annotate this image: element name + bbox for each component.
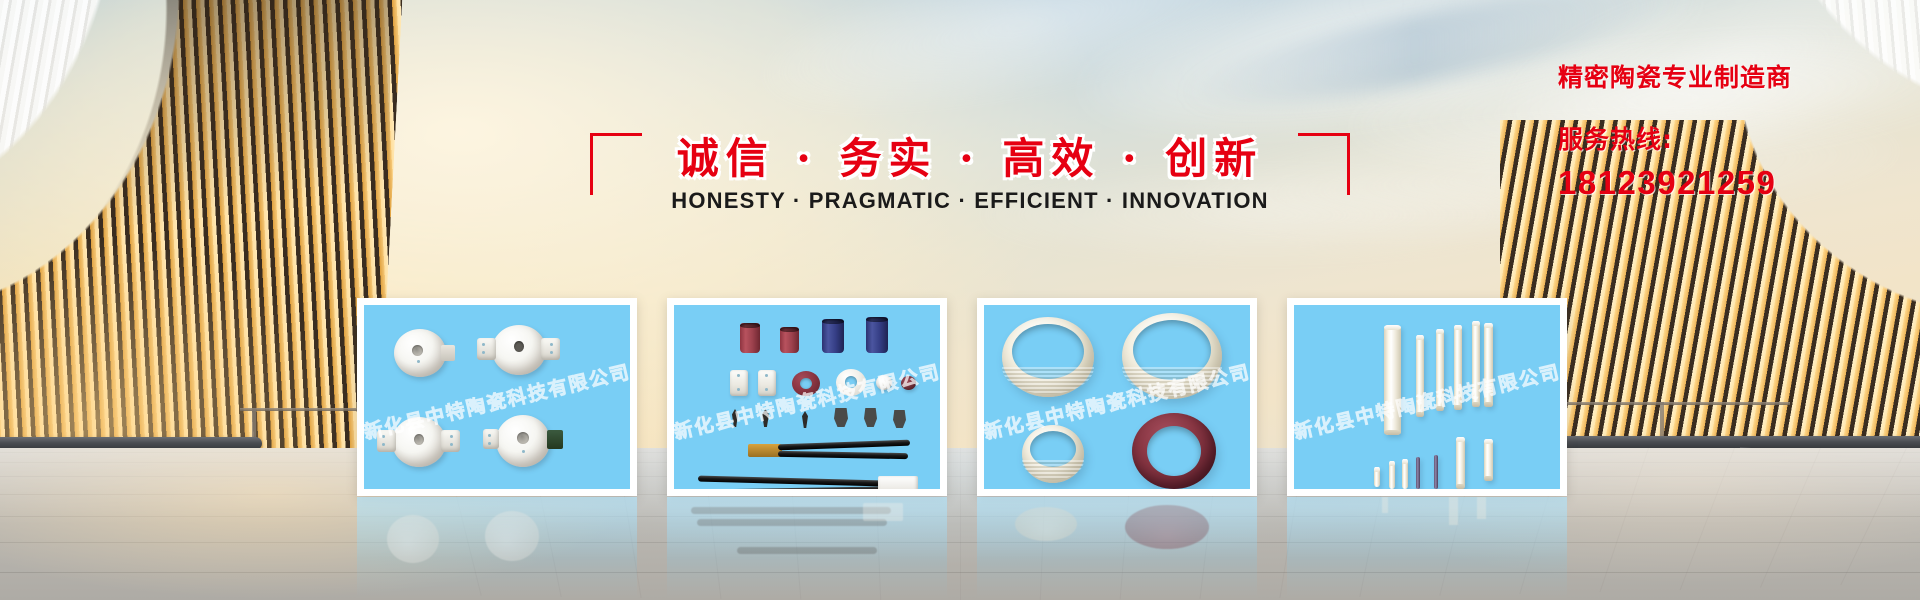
ceramic-rod-purple bbox=[1434, 455, 1438, 489]
product-image-3: 新化县中特陶瓷科技有限公司 bbox=[984, 305, 1250, 489]
wire-assembly-1 bbox=[748, 440, 908, 462]
ceramic-tube bbox=[780, 327, 799, 353]
wire-assembly-2 bbox=[698, 475, 918, 489]
ceramic-rod bbox=[1416, 335, 1424, 417]
metal-clip bbox=[732, 409, 738, 427]
ceramic-ring-small bbox=[836, 369, 866, 396]
slogan-english: HONESTY · PRAGMATIC · EFFICIENT · INNOVA… bbox=[590, 188, 1350, 214]
reflection-panel-2 bbox=[667, 497, 947, 599]
ceramic-ring-maroon bbox=[1132, 413, 1216, 489]
company-tagline: 精密陶瓷专业制造商 bbox=[1558, 58, 1898, 94]
hotline-label: 服务热线: bbox=[1558, 120, 1898, 156]
metal-clip bbox=[834, 408, 848, 427]
ceramic-ring-large bbox=[1122, 313, 1222, 399]
ceramic-rod-small bbox=[1374, 467, 1380, 487]
ceramic-rod bbox=[1472, 321, 1480, 407]
contact-block: 精密陶瓷专业制造商 服务热线: 18123921259 bbox=[1558, 58, 1898, 202]
reflection-panel-1 bbox=[357, 497, 637, 599]
metal-clip bbox=[802, 411, 808, 428]
ceramic-tube bbox=[740, 323, 760, 353]
ceramic-holder-part bbox=[492, 325, 546, 375]
ceramic-rod bbox=[1454, 325, 1462, 410]
product-panel-row: 新化县中特陶瓷科技有限公司 bbox=[357, 298, 1567, 498]
ceramic-plate bbox=[730, 370, 748, 396]
ceramic-rod bbox=[1384, 325, 1401, 435]
product-panel-4[interactable]: 新化县中特陶瓷科技有限公司 bbox=[1287, 298, 1567, 496]
product-panel-1[interactable]: 新化县中特陶瓷科技有限公司 bbox=[357, 298, 637, 496]
handrail-post bbox=[252, 408, 256, 438]
watermark-text: 新化县中特陶瓷科技有限公司 bbox=[1294, 357, 1560, 445]
slogan-block: 诚信 · 务实 · 高效 · 创新 HONESTY · PRAGMATIC · … bbox=[590, 125, 1350, 235]
ceramic-tube bbox=[866, 317, 888, 353]
reflection-panel-3 bbox=[977, 497, 1257, 599]
metal-clip bbox=[864, 408, 877, 427]
ceramic-rod-purple bbox=[1416, 457, 1420, 489]
ceramic-rod-small bbox=[1389, 461, 1395, 489]
product-panel-2[interactable]: 新化县中特陶瓷科技有限公司 bbox=[667, 298, 947, 496]
ceramic-cap bbox=[901, 376, 916, 390]
slogan-chinese: 诚信 · 务实 · 高效 · 创新 bbox=[590, 125, 1350, 186]
ceramic-holder-part bbox=[394, 329, 446, 377]
ceramic-rod bbox=[1484, 323, 1493, 407]
ceramic-holder-part bbox=[392, 417, 446, 467]
reflection-panel-4 bbox=[1287, 497, 1567, 599]
ceramic-rod-small bbox=[1402, 459, 1408, 489]
ceramic-tube bbox=[822, 319, 844, 353]
banner-stage: 诚信 · 务实 · 高效 · 创新 HONESTY · PRAGMATIC · … bbox=[0, 0, 1920, 600]
watermark-text: 新化县中特陶瓷科技有限公司 bbox=[674, 357, 940, 445]
panel-reflections bbox=[357, 497, 1567, 599]
metal-clip bbox=[893, 410, 906, 428]
ceramic-plate bbox=[758, 370, 776, 396]
thin-handrail-right bbox=[1560, 402, 1790, 405]
ceramic-cap bbox=[876, 375, 892, 390]
ceramic-rod bbox=[1436, 329, 1444, 411]
product-image-2: 新化县中特陶瓷科技有限公司 bbox=[674, 305, 940, 489]
ceramic-rod-small bbox=[1484, 439, 1493, 481]
ceramic-ring-small bbox=[792, 371, 820, 396]
product-panel-3[interactable]: 新化县中特陶瓷科技有限公司 bbox=[977, 298, 1257, 496]
hotline-number[interactable]: 18123921259 bbox=[1558, 164, 1898, 202]
ceramic-rod-small bbox=[1456, 437, 1465, 489]
product-image-4: 新化县中特陶瓷科技有限公司 bbox=[1294, 305, 1560, 489]
ceramic-ring-large bbox=[1002, 317, 1094, 397]
ceramic-holder-part bbox=[496, 415, 550, 467]
ceramic-ring-medium bbox=[1022, 425, 1084, 483]
metal-clip bbox=[762, 409, 769, 427]
product-image-1: 新化县中特陶瓷科技有限公司 bbox=[364, 305, 630, 489]
